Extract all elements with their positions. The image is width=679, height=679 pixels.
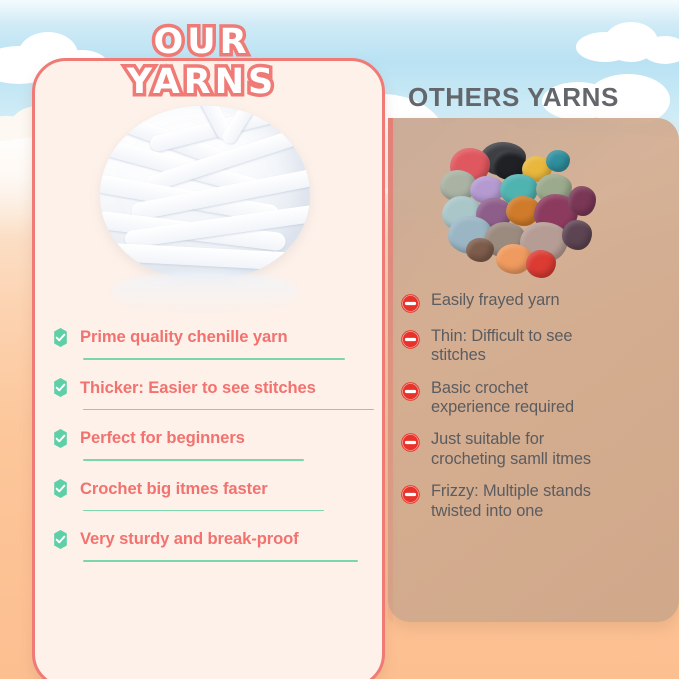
check-icon <box>50 478 71 499</box>
pro-label: Perfect for beginners <box>80 428 245 448</box>
pro-label: Very sturdy and break-proof <box>80 529 299 549</box>
pro-label: Crochet big itmes faster <box>80 479 268 499</box>
no-entry-icon <box>400 484 421 505</box>
list-item: Thicker: Easier to see stitches <box>50 373 375 411</box>
check-icon <box>50 529 71 550</box>
no-entry-icon <box>400 432 421 453</box>
list-item: Very sturdy and break-proof <box>50 524 375 562</box>
con-label: Just suitable for crocheting samll itmes <box>431 430 607 469</box>
con-label: Basic crochet experience required <box>431 379 597 418</box>
list-item: Just suitable for crocheting samll itmes <box>400 430 652 469</box>
page-title-others-yarns: OTHERS YARNS <box>408 82 619 113</box>
list-item: Basic crochet experience required <box>400 379 652 418</box>
check-icon <box>50 377 71 398</box>
list-item: Crochet big itmes faster <box>50 474 375 512</box>
divider <box>83 510 324 512</box>
check-icon <box>50 327 71 348</box>
check-icon <box>50 428 71 449</box>
white-yarn-ball <box>100 106 310 278</box>
infographic-stage: OUR YARNS OTHERS YARNS Prime quality che… <box>0 0 679 679</box>
divider <box>83 560 358 562</box>
list-item: Easily frayed yarn <box>400 291 652 314</box>
divider <box>83 358 345 360</box>
divider <box>83 409 374 411</box>
pro-label: Thicker: Easier to see stitches <box>80 378 316 398</box>
con-label: Easily frayed yarn <box>431 291 559 310</box>
no-entry-icon <box>400 293 421 314</box>
list-item: Prime quality chenille yarn <box>50 322 375 360</box>
page-title-our-yarns: OUR YARNS <box>72 22 332 102</box>
others-yarn-photo <box>440 140 625 285</box>
con-label: Frizzy: Multiple stands twisted into one <box>431 482 621 521</box>
our-yarn-photo <box>92 106 324 311</box>
list-item: Thin: Difficult to see stitches <box>400 327 652 366</box>
no-entry-icon <box>400 381 421 402</box>
list-item: Perfect for beginners <box>50 423 375 461</box>
no-entry-icon <box>400 329 421 350</box>
pros-list: Prime quality chenille yarn Thicker: Eas… <box>50 322 375 575</box>
cons-list: Easily frayed yarn Thin: Difficult to se… <box>400 291 652 534</box>
con-label: Thin: Difficult to see stitches <box>431 327 591 366</box>
divider <box>83 459 304 461</box>
list-item: Frizzy: Multiple stands twisted into one <box>400 482 652 521</box>
pro-label: Prime quality chenille yarn <box>80 327 288 347</box>
yarn-ball-reflection <box>112 272 298 312</box>
